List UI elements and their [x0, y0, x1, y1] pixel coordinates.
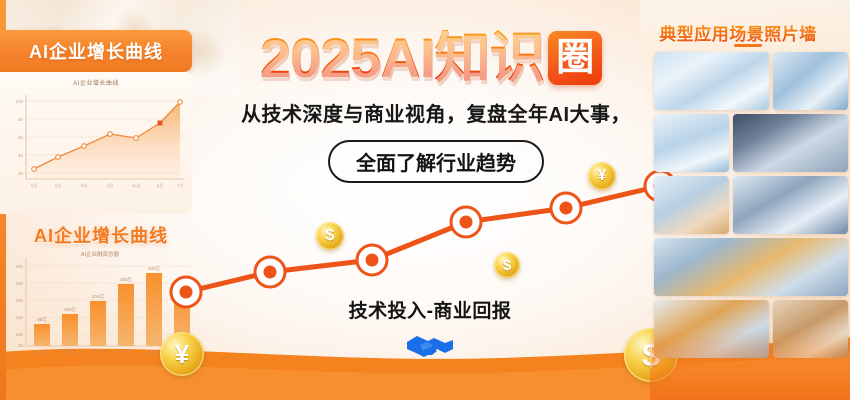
svg-text:2021年: 2021年 — [36, 348, 49, 354]
svg-text:150: 150 — [16, 315, 24, 320]
svg-text:40: 40 — [18, 153, 23, 158]
left-line-chart-title: AI企业增长曲线 — [0, 78, 192, 87]
svg-text:2024年: 2024年 — [120, 348, 133, 354]
title-main-text: 2025AI知识 — [260, 30, 545, 86]
svg-text:80: 80 — [18, 117, 23, 122]
svg-text:204亿: 204亿 — [92, 293, 105, 300]
svg-text:2023年: 2023年 — [92, 348, 105, 354]
left-header-label: AI企业增长曲线 — [29, 38, 163, 64]
coin-dollar-1: $ — [316, 222, 344, 250]
svg-text:100: 100 — [16, 99, 24, 104]
photo-wall-underline — [734, 44, 762, 47]
center-caption: 技术投入-商业回报 — [300, 296, 560, 323]
svg-text:300: 300 — [16, 264, 24, 269]
svg-text:20: 20 — [18, 171, 23, 176]
svg-text:2月: 2月 — [55, 183, 62, 189]
photo-robot-arm[interactable] — [654, 300, 769, 358]
svg-text:2022年: 2022年 — [64, 348, 77, 354]
coin-yen-1: ¥ — [588, 162, 616, 190]
photo-wall-grid — [654, 52, 850, 400]
handshake-icon — [404, 330, 456, 362]
photo-office-desk[interactable] — [733, 114, 848, 172]
svg-text:250: 250 — [16, 281, 24, 286]
photo-open-office[interactable] — [654, 176, 729, 234]
svg-text:100: 100 — [16, 332, 24, 337]
photo-factory-line[interactable] — [654, 238, 848, 296]
banner-pill-label: 全面了解行业趋势 — [328, 140, 544, 183]
banner-title: 2025AI知识 圈 — [196, 24, 666, 92]
handshake-wrap — [300, 330, 560, 362]
svg-text:50: 50 — [18, 343, 23, 348]
coin-yen-2: ¥ — [160, 332, 204, 376]
photo-wall-title: 典型应用场景照片墙 — [638, 20, 838, 45]
photo-medical-team[interactable] — [654, 52, 769, 110]
ai-knowledge-banner: AI企业增长曲线 AI企业增长曲线 10080 6040 20 — [0, 0, 850, 400]
banner-subtitle: 从技术深度与商业视角，复盘全年AI大事， — [196, 98, 676, 127]
title-badge-circle: 圈 — [548, 31, 602, 85]
svg-text:60: 60 — [18, 135, 23, 140]
photo-engineer-laptop[interactable] — [733, 176, 848, 234]
svg-text:265亿: 265亿 — [120, 276, 133, 283]
photo-lab-technician[interactable] — [654, 114, 729, 172]
svg-text:4月: 4月 — [107, 183, 114, 189]
coin-dollar-2: $ — [494, 252, 520, 278]
photo-warehouse[interactable] — [773, 300, 848, 358]
svg-text:2025年: 2025年 — [148, 348, 161, 354]
svg-text:200: 200 — [16, 298, 24, 303]
svg-text:98亿: 98亿 — [37, 316, 47, 323]
svg-text:6月: 6月 — [31, 183, 38, 189]
svg-text:9月: 9月 — [81, 183, 88, 189]
left-header-bar: AI企业增长曲线 — [0, 30, 192, 72]
svg-text:11月: 11月 — [132, 183, 141, 189]
photo-lab-equipment[interactable] — [773, 52, 848, 110]
svg-text:155亿: 155亿 — [64, 306, 77, 313]
